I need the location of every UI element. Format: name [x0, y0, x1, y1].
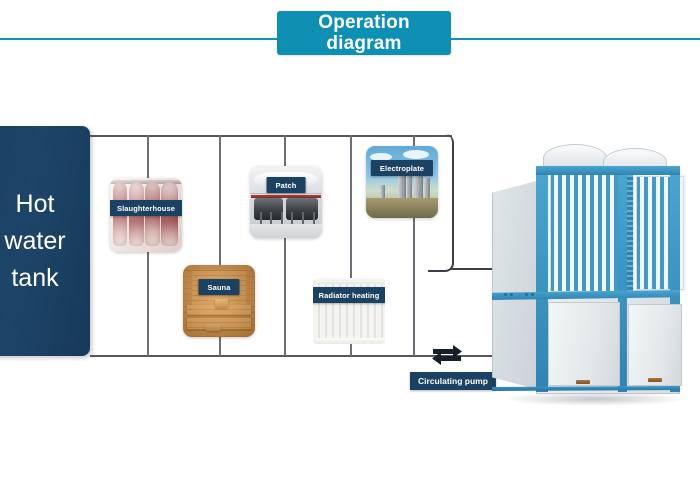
heat-pump-side-panel — [492, 180, 540, 390]
operation-diagram-canvas: Operation diagram Hot water tank Slaught… — [0, 0, 700, 500]
pipe-supply-header — [90, 135, 452, 137]
node-patch[interactable]: Patch — [250, 166, 322, 238]
heat-pump-frame-left — [536, 166, 548, 392]
wooden-sauna-image — [183, 265, 255, 337]
node-label-slaughterhouse: Slaughterhouse — [110, 200, 182, 216]
heat-pump-lower-panel-left — [548, 302, 620, 386]
page-title-banner: Operation diagram — [277, 11, 451, 55]
node-label-radiator-heating: Radiator heating — [313, 287, 385, 303]
node-electroplate[interactable]: Electroplate — [366, 146, 438, 218]
page-title-line1: Operation — [318, 12, 410, 33]
heat-pump-indicator-lights — [504, 293, 534, 296]
node-label-electroplate: Electroplate — [371, 160, 433, 176]
hot-water-tank[interactable]: Hot water tank — [0, 126, 90, 356]
industrial-plant-image — [366, 146, 438, 218]
exchange-arrows-icon — [429, 340, 465, 370]
node-radiator-heating[interactable]: Radiator heating — [313, 278, 385, 344]
heat-pump-frame-top — [536, 166, 680, 175]
node-label-sauna: Sauna — [198, 279, 239, 295]
node-slaughterhouse[interactable]: Slaughterhouse — [110, 178, 182, 252]
heat-pump-lower-panel-right — [628, 304, 682, 386]
heat-pump-latch-left — [576, 380, 590, 384]
page-title-line2: diagram — [326, 33, 401, 54]
heat-pump-coil-left — [548, 172, 624, 294]
node-sauna[interactable]: Sauna — [183, 265, 255, 337]
node-label-patch: Patch — [267, 177, 306, 193]
heat-pump-latch-right — [648, 378, 662, 382]
hot-water-tank-label: Hot water tank — [0, 186, 88, 297]
air-source-heat-pump-unit[interactable] — [480, 130, 690, 410]
